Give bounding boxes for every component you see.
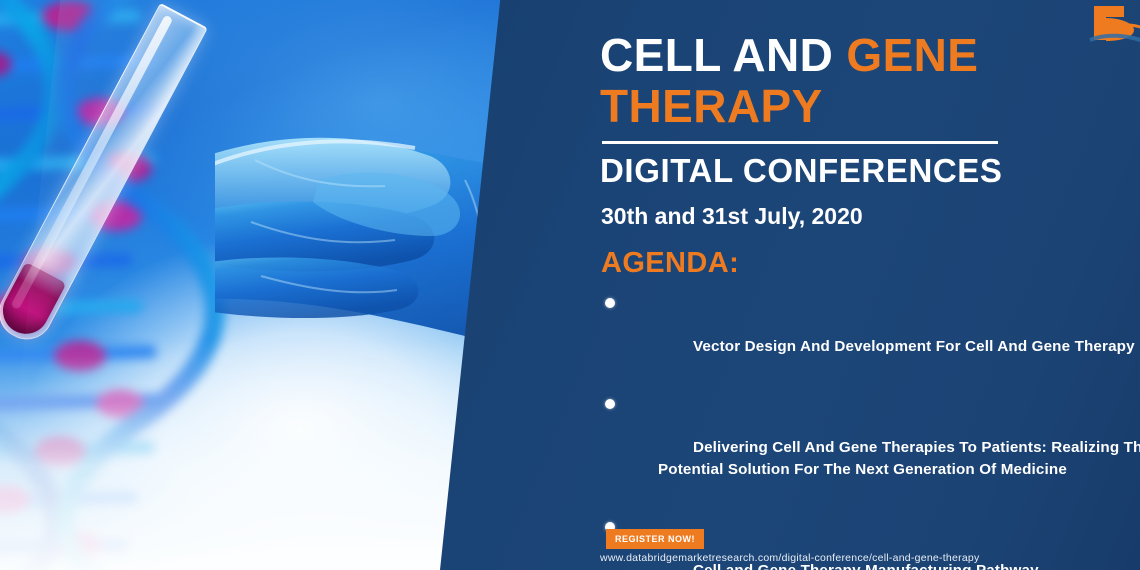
title-line-2: THERAPY (600, 81, 1140, 132)
event-dates: 30th and 31st July, 2020 (601, 203, 863, 230)
title-divider (602, 141, 998, 144)
agenda-item-label: Delivering Cell And Gene Therapies To Pa… (658, 439, 1140, 478)
bullet-icon (605, 399, 615, 409)
conference-banner: CELL AND GENE THERAPY DIGITAL CONFERENCE… (0, 0, 1140, 570)
brand-logo[interactable] (1088, 4, 1140, 48)
agenda-heading: AGENDA: (601, 247, 739, 280)
subtitle: DIGITAL CONFERENCES (600, 152, 1003, 190)
bullet-icon (605, 298, 615, 308)
agenda-item: Vector Design And Development For Cell A… (600, 292, 1140, 380)
title-part-orange: GENE (846, 29, 978, 81)
banner-content: CELL AND GENE THERAPY DIGITAL CONFERENCE… (600, 0, 1140, 570)
title-line-1: CELL AND GENE (600, 30, 1140, 81)
agenda-item-label: Vector Design And Development For Cell A… (693, 338, 1135, 355)
main-title: CELL AND GENE THERAPY (600, 30, 1140, 132)
website-url-link[interactable]: www.databridgemarketresearch.com/digital… (600, 552, 980, 564)
register-now-button[interactable]: REGISTER NOW! (606, 529, 704, 549)
title-part-white: CELL AND (600, 29, 846, 81)
agenda-item: Delivering Cell And Gene Therapies To Pa… (600, 393, 1140, 503)
